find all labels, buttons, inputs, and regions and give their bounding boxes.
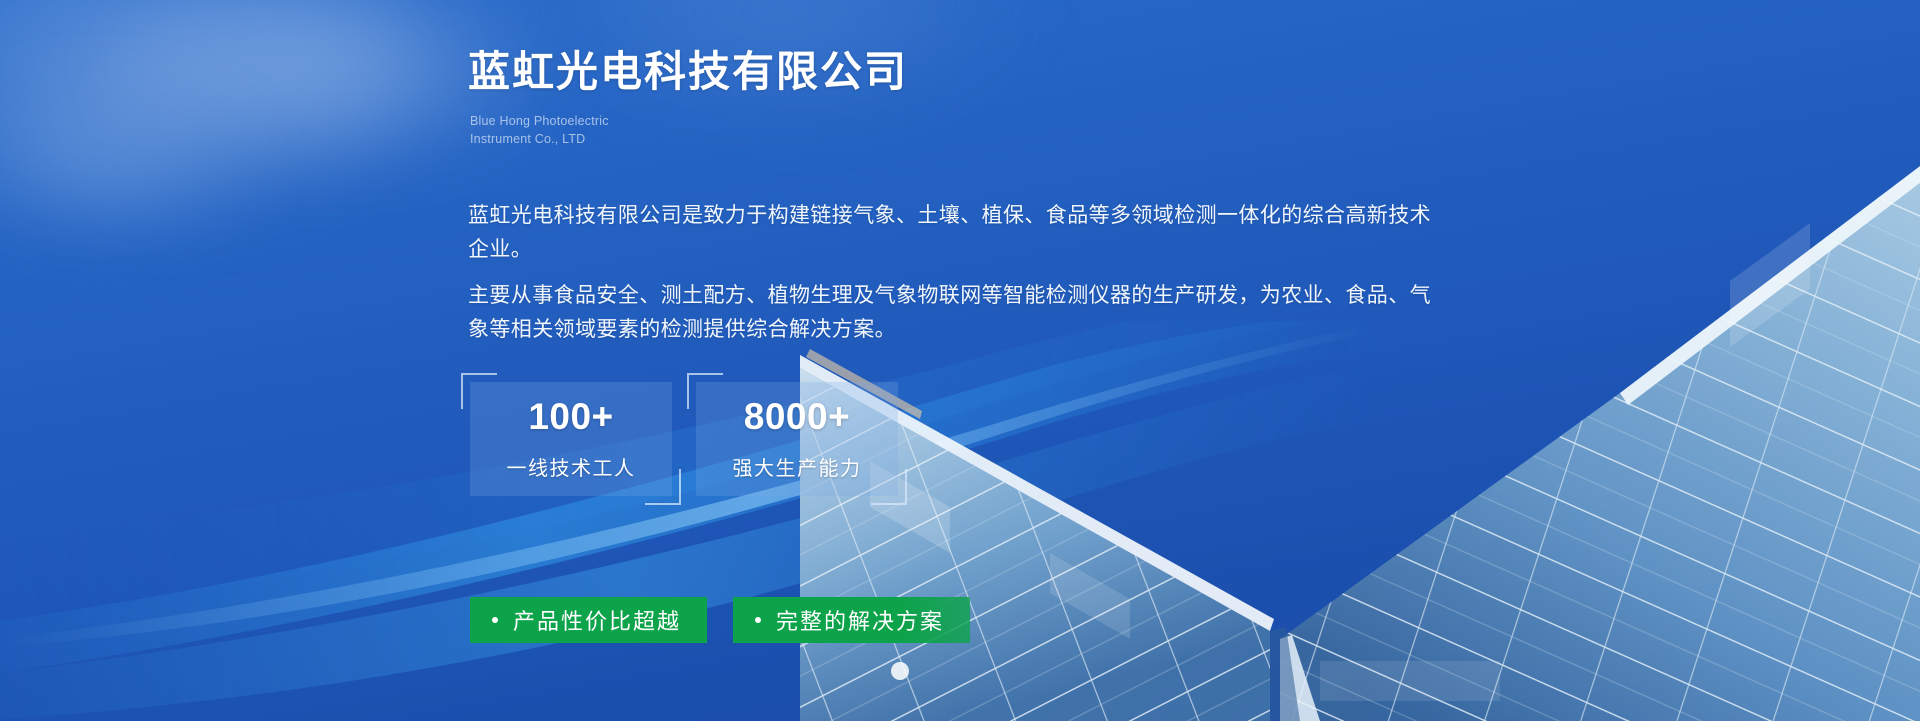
intro-paragraph-2: 主要从事食品安全、测土配方、植物生理及气象物联网等智能检测仪器的生产研发，为农业…	[468, 279, 1450, 347]
stat-label: 强大生产能力	[733, 452, 862, 481]
feature-tag-label: 产品性价比超越	[513, 604, 681, 636]
stat-card-group: 100+ 一线技术工人 8000+ 强大生产能力	[470, 382, 898, 496]
feature-tag[interactable]: 产品性价比超越	[470, 597, 707, 643]
feature-tag-label: 完整的解决方案	[776, 604, 944, 636]
english-name-line-1: Blue Hong Photoelectric	[470, 113, 609, 131]
stat-card: 100+ 一线技术工人	[470, 382, 672, 496]
feature-tag-group: 产品性价比超越 完整的解决方案	[470, 597, 970, 643]
banner-content: 蓝虹光电科技有限公司 Blue Hong Photoelectric Instr…	[468, 0, 1468, 721]
cloud-decoration	[0, 90, 260, 240]
english-name-line-2: Instrument Co., LTD	[470, 131, 609, 149]
cloud-decoration	[0, 0, 440, 220]
company-hero-banner: 蓝虹光电科技有限公司 Blue Hong Photoelectric Instr…	[0, 0, 1920, 721]
intro-paragraph-1: 蓝虹光电科技有限公司是致力于构建链接气象、土壤、植保、食品等多领域检测一体化的综…	[468, 199, 1450, 267]
stat-card: 8000+ 强大生产能力	[696, 382, 898, 496]
stat-value: 8000+	[744, 398, 850, 435]
bullet-dot-icon	[755, 617, 761, 623]
company-english-name: Blue Hong Photoelectric Instrument Co., …	[470, 113, 609, 149]
bullet-dot-icon	[492, 617, 498, 623]
feature-tag[interactable]: 完整的解决方案	[733, 597, 970, 643]
page-title: 蓝虹光电科技有限公司	[468, 48, 908, 96]
stat-label: 一线技术工人	[507, 452, 636, 481]
stat-value: 100+	[528, 398, 613, 435]
